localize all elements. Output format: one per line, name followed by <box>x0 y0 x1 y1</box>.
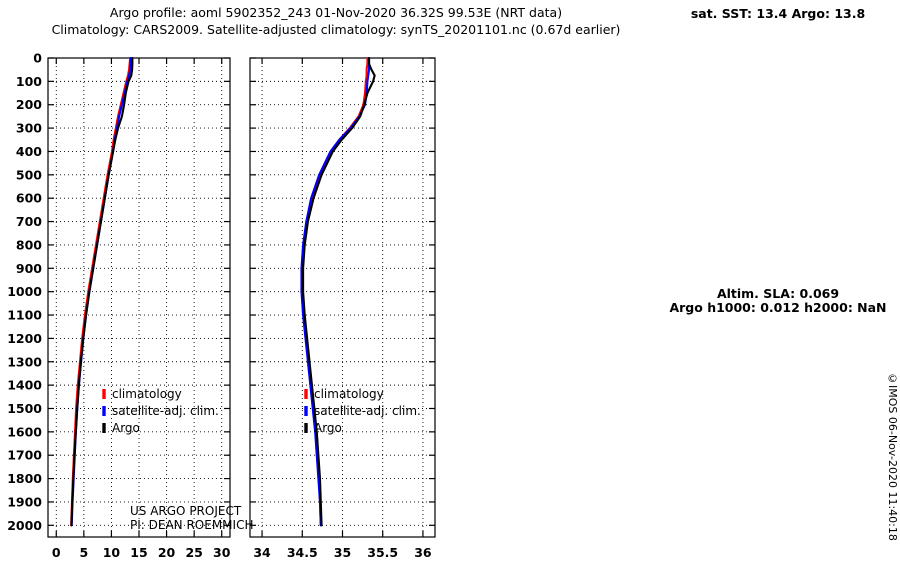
copyright-label: ©IMOS 06-Nov-2020 11:40:18 <box>886 372 899 541</box>
sla-map-panel[interactable] <box>0 0 900 580</box>
